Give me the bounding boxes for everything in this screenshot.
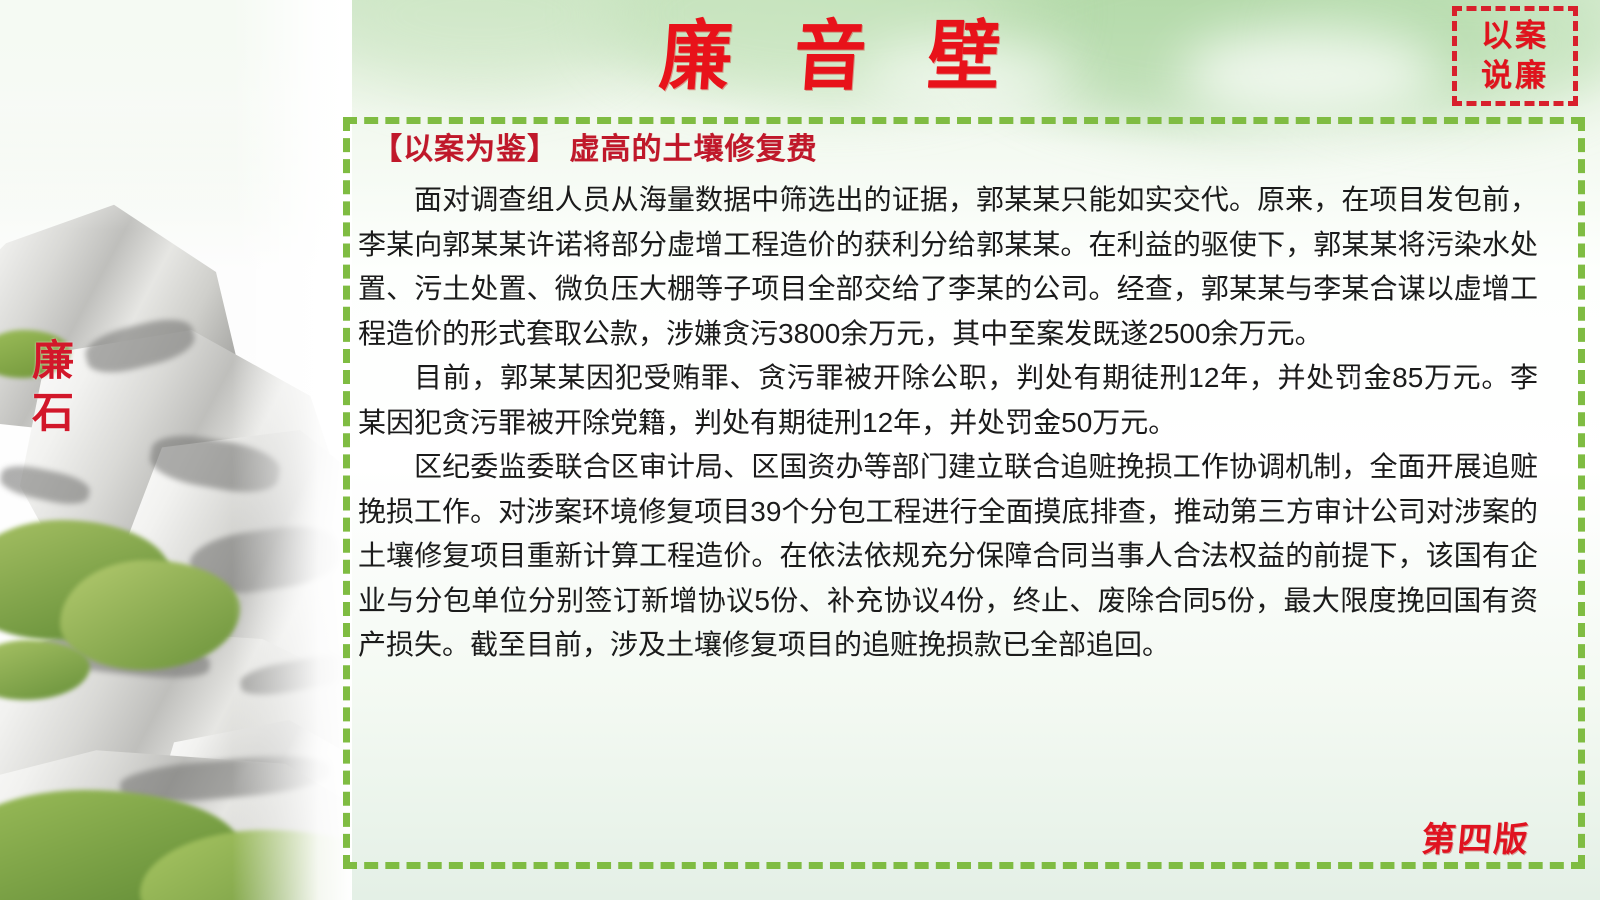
article-paragraph: 面对调查组人员从海量数据中筛选出的证据，郭某某只能如实交代。原来，在项目发包前，… xyxy=(358,178,1538,356)
background-wash xyxy=(980,0,1500,130)
masthead-char-1: 廉 xyxy=(657,18,734,94)
article-paragraph: 目前，郭某某因犯受贿罪、贪污罪被开除公职，判处有期徒刑12年，并处罚金85万元。… xyxy=(358,356,1538,445)
background-wash xyxy=(330,0,630,90)
corner-badge: 以案 说廉 xyxy=(1452,6,1578,106)
rock-seal-char-1: 廉 xyxy=(26,335,80,387)
article: 【以案为鉴】 虚高的土壤修复费 面对调查组人员从海量数据中筛选出的证据，郭某某只… xyxy=(358,128,1538,668)
corner-badge-line-1: 以案 xyxy=(1481,16,1549,56)
rock-seal-char-2: 石 xyxy=(26,387,80,439)
masthead-title: 廉 音 壁 xyxy=(660,8,1000,104)
masthead-char-2: 音 xyxy=(791,18,868,94)
article-heading: 【以案为鉴】 虚高的土壤修复费 xyxy=(372,128,1538,172)
background-wash xyxy=(1180,30,1440,120)
rock-seal-text: 廉 石 xyxy=(26,335,80,439)
photo-right-fade xyxy=(232,0,352,900)
article-paragraph: 区纪委监委联合区审计局、区国资办等部门建立联合追赃挽损工作协调机制，全面开展追赃… xyxy=(358,445,1538,668)
corner-badge-line-2: 说廉 xyxy=(1481,56,1549,96)
rock-photo: 廉 石 xyxy=(0,0,352,900)
masthead-char-3: 壁 xyxy=(925,18,1002,94)
newspaper-page: 廉 石 廉 音 壁 以案 说廉 【以案为鉴】 虚高的土壤修复费 面对调查组人员从… xyxy=(0,0,1600,900)
edition-label: 第四版 xyxy=(1420,812,1532,861)
